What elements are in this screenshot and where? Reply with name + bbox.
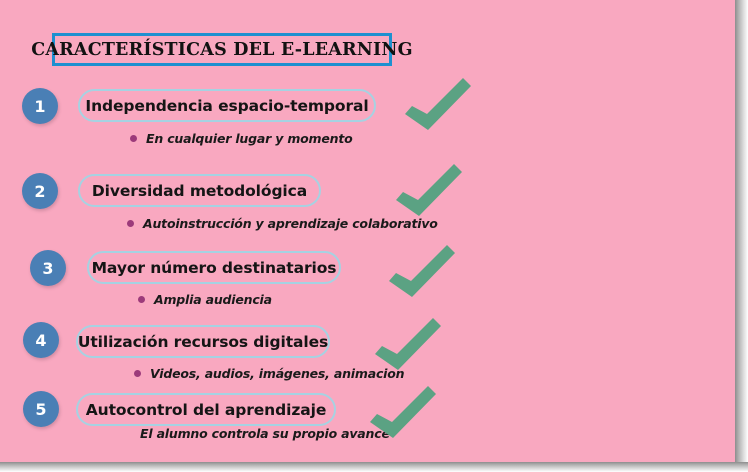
feature-detail-text-2: Autoinstrucción y aprendizaje colaborati…	[143, 216, 438, 231]
check-mark-icon	[370, 386, 436, 438]
feature-heading-1: Independencia espacio-temporal	[85, 97, 368, 115]
feature-pill-5: Autocontrol del aprendizaje	[76, 393, 336, 426]
feature-heading-2: Diversidad metodológica	[92, 182, 307, 200]
slide-canvas: CARACTERÍSTICAS DEL E-LEARNING 1 Indepen…	[0, 0, 735, 462]
step-number-badge-2: 2	[22, 173, 58, 209]
feature-detail-text-1: En cualquier lugar y momento	[146, 131, 353, 146]
feature-detail-3: Amplia audiencia	[138, 292, 272, 307]
feature-detail-1: En cualquier lugar y momento	[130, 131, 353, 146]
check-mark-icon	[405, 78, 471, 130]
feature-detail-text-5: El alumno controla su propio avance	[140, 426, 390, 441]
feature-detail-2: Autoinstrucción y aprendizaje colaborati…	[127, 216, 438, 231]
step-number-badge-5: 5	[23, 391, 59, 427]
check-mark-icon	[389, 245, 455, 297]
feature-pill-2: Diversidad metodológica	[78, 174, 321, 207]
feature-pill-3: Mayor número destinatarios	[87, 251, 341, 284]
feature-detail-4: Videos, audios, imágenes, animacion	[134, 366, 404, 381]
step-number-badge-1: 1	[22, 88, 58, 124]
slide-shadow-bottom	[0, 462, 748, 472]
feature-heading-4: Utilización recursos digitales	[78, 333, 328, 351]
check-mark-icon	[396, 164, 462, 216]
feature-heading-3: Mayor número destinatarios	[92, 259, 337, 277]
feature-detail-5: El alumno controla su propio avance	[140, 426, 390, 441]
slide-shadow-right	[735, 0, 748, 472]
bullet-icon	[138, 296, 145, 303]
feature-detail-text-4: Videos, audios, imágenes, animacion	[150, 366, 404, 381]
slide-title-box: CARACTERÍSTICAS DEL E-LEARNING	[52, 33, 392, 66]
step-number-badge-4: 4	[23, 322, 59, 358]
bullet-icon	[134, 370, 141, 377]
bullet-icon	[130, 135, 137, 142]
bullet-icon	[127, 220, 134, 227]
step-number-badge-3: 3	[30, 250, 66, 286]
page-title: CARACTERÍSTICAS DEL E-LEARNING	[31, 40, 412, 60]
check-mark-icon	[375, 318, 441, 370]
feature-pill-4: Utilización recursos digitales	[76, 325, 330, 358]
feature-pill-1: Independencia espacio-temporal	[78, 89, 376, 122]
feature-detail-text-3: Amplia audiencia	[154, 292, 272, 307]
feature-heading-5: Autocontrol del aprendizaje	[86, 401, 326, 419]
